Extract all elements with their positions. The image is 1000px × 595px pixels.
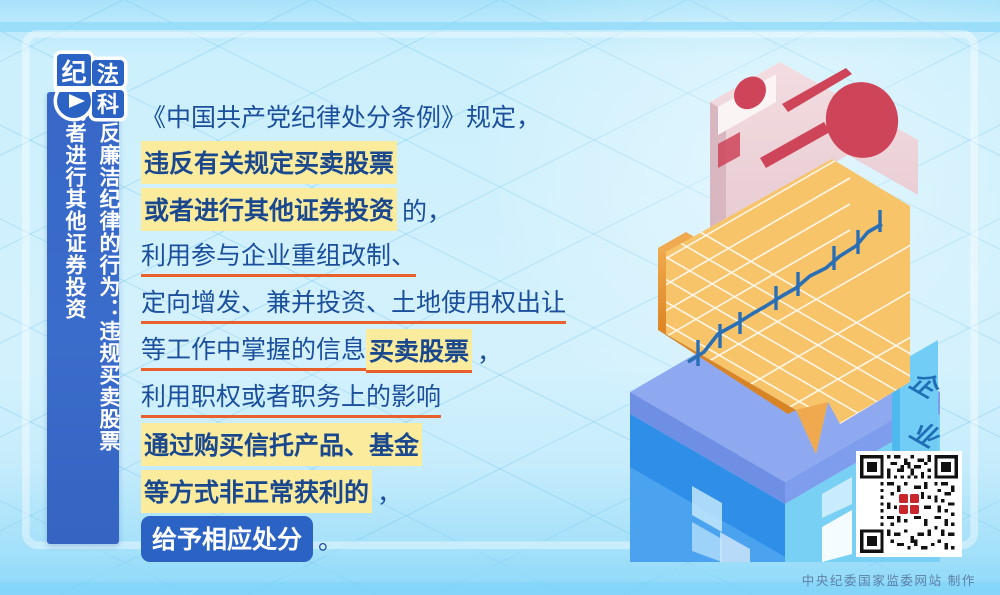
text-segment-ul: 利用参与企业重组改制、	[141, 236, 416, 277]
body-line: 《中国共产党纪律处分条例》规定，	[141, 92, 611, 139]
text-segment-hl: 或者进行其他证券投资	[141, 188, 397, 231]
logo-char-ke: 科	[97, 92, 119, 117]
body-line: 违反有关规定买卖股票	[141, 139, 611, 186]
body-line: 利用职权或者职务上的影响	[141, 374, 611, 421]
text-segment-hl: 违反有关规定买卖股票	[141, 141, 397, 184]
text-segment-tail: ，	[377, 474, 402, 510]
body-line: 定向增发、兼并投资、土地使用权出让	[141, 280, 611, 327]
text-segment-ul: 定向增发、兼并投资、土地使用权出让	[141, 283, 566, 324]
body-text-block: 《中国共产党纪律处分条例》规定，违反有关规定买卖股票或者进行其他证券投资的，利用…	[141, 92, 611, 562]
footer-credit: 中央纪委国家监委网站 制作	[802, 570, 976, 589]
qr-code[interactable]	[856, 451, 962, 557]
banner-column-outer: 或者进行其他证券投资	[51, 92, 85, 544]
logo-char-ji: 纪	[61, 58, 86, 87]
text-segment-hl: 通过购买信托产品、基金	[141, 423, 422, 466]
jifa-baike-logo: 纪 法 科	[48, 48, 132, 132]
infographic-canvas: 违反廉洁纪律的行为：违规买卖股票 或者进行其他证券投资 纪 法 科 《中国共产党…	[0, 0, 1000, 595]
text-segment-tail: 的，	[402, 192, 452, 228]
body-line: 或者进行其他证券投资的，	[141, 186, 611, 233]
text-segment-hl: 等方式非正常获利的	[141, 470, 372, 513]
body-line: 等方式非正常获利的，	[141, 468, 611, 515]
body-line: 利用参与企业重组改制、	[141, 233, 611, 280]
text-segment-plain: 《中国共产党纪律处分条例》规定，	[141, 98, 541, 134]
top-band	[0, 22, 1000, 32]
text-segment-tail: ，	[477, 333, 502, 369]
text-segment-ul: 等工作中掌握的信息	[141, 330, 366, 371]
text-segment-hlul: 买卖股票	[366, 329, 472, 373]
vertical-banner-text: 违反廉洁纪律的行为：违规买卖股票 或者进行其他证券投资	[47, 92, 119, 544]
banner-column-inner: 违反廉洁纪律的行为：违规买卖股票	[85, 92, 119, 544]
text-segment-ul: 利用职权或者职务上的影响	[141, 377, 441, 418]
logo-char-fa: 法	[97, 62, 119, 87]
text-segment-pill: 给予相应处分	[141, 516, 313, 562]
body-line: 给予相应处分。	[141, 515, 611, 562]
text-segment-tail: 。	[318, 521, 343, 557]
body-line: 通过购买信托产品、基金	[141, 421, 611, 468]
body-line: 等工作中掌握的信息 买卖股票，	[141, 327, 611, 374]
